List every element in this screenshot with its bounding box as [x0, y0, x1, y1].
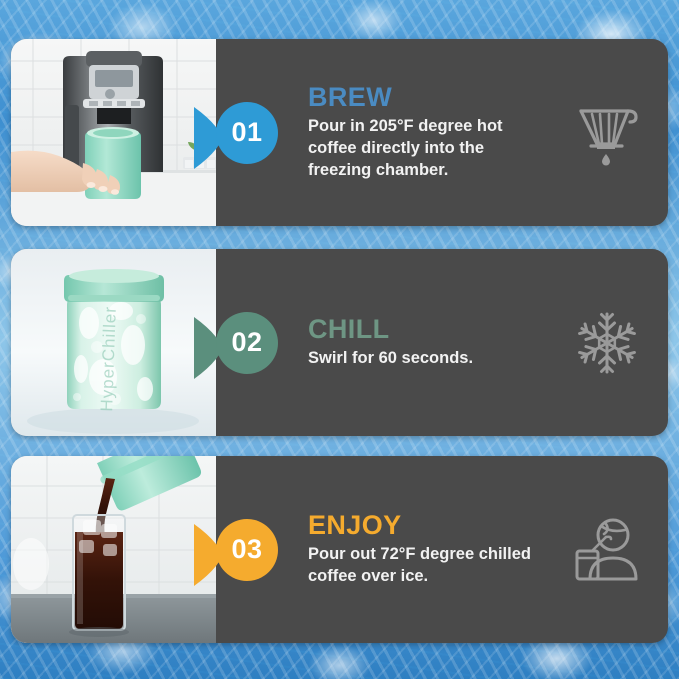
step-photo-3 [11, 456, 216, 643]
step-title-3: ENJOY [308, 511, 531, 539]
step-text-1: BREW Pour in 205°F degree hot coffee dir… [308, 83, 503, 182]
step-text-2: CHILL Swirl for 60 seconds. [308, 315, 473, 370]
step-photo-2: HyperChiller [11, 249, 216, 436]
step-description-2: Swirl for 60 seconds. [308, 348, 473, 370]
snowflake-icon [568, 304, 646, 382]
step-panel-1: 01 BREW Pour in 205°F degree hot coffee … [11, 39, 668, 226]
step-content-1: 01 BREW Pour in 205°F degree hot coffee … [216, 39, 668, 226]
step-content-3: 03 ENJOY Pour out 72°F degree chilled co… [216, 456, 668, 643]
step-badge-1: 01 [194, 97, 278, 169]
step-photo-1 [11, 39, 216, 226]
step-badge-2: 02 [194, 307, 278, 379]
step-content-2: 02 CHILL Swirl for 60 seconds. [216, 249, 668, 436]
step-title-2: CHILL [308, 315, 473, 343]
step-number-2: 02 [216, 307, 278, 379]
svg-text:HyperChiller: HyperChiller [97, 306, 120, 412]
step-panel-3: 03 ENJOY Pour out 72°F degree chilled co… [11, 456, 668, 643]
step-badge-3: 03 [194, 514, 278, 586]
step-title-1: BREW [308, 83, 503, 111]
pour-over-dripper-icon [568, 94, 646, 172]
step-panel-2: HyperChiller 02 CHILL Swirl for 60 secon… [11, 249, 668, 436]
step-description-3: Pour out 72°F degree chilled coffee over… [308, 544, 531, 588]
step-description-1: Pour in 205°F degree hot coffee directly… [308, 116, 503, 182]
person-drinking-icon [568, 511, 646, 589]
step-text-3: ENJOY Pour out 72°F degree chilled coffe… [308, 511, 531, 588]
step-number-3: 03 [216, 514, 278, 586]
step-number-1: 01 [216, 97, 278, 169]
infographic-stage: 01 BREW Pour in 205°F degree hot coffee … [0, 0, 679, 679]
